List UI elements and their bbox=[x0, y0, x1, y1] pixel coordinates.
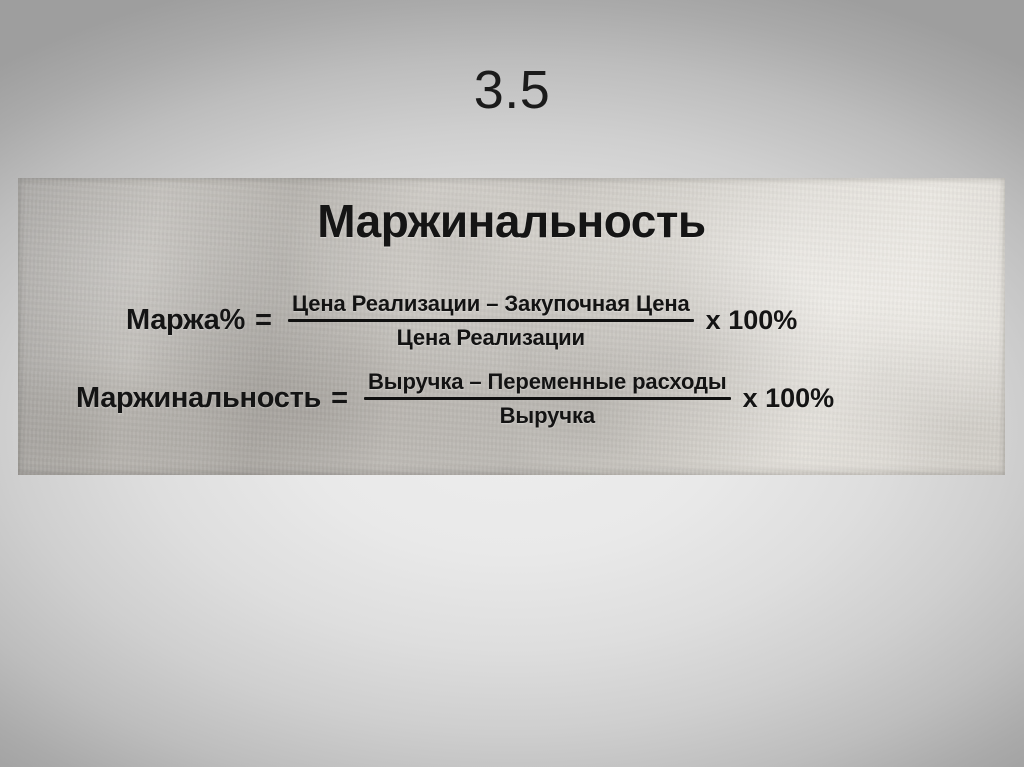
formula-equals-sign-2: = bbox=[331, 382, 348, 415]
formula-multiplier-1: x 100% bbox=[706, 305, 798, 336]
formula-label-marzhinalnost: Маржинальность bbox=[76, 382, 321, 415]
fraction-denominator-1: Цена Реализации bbox=[397, 322, 585, 351]
fraction-numerator-1: Цена Реализации – Закупочная Цена bbox=[288, 290, 694, 319]
formula-row-marzhinalnost: Маржинальность = Выручка – Переменные ра… bbox=[76, 368, 834, 429]
formula-equals-sign-1: = bbox=[255, 304, 272, 337]
formula-label-marzha-percent: Маржа% bbox=[126, 304, 245, 337]
formula-multiplier-2: x 100% bbox=[743, 383, 835, 414]
fraction-2: Выручка – Переменные расходы Выручка bbox=[364, 368, 731, 429]
formula-row-marzha-percent: Маржа% = Цена Реализации – Закупочная Це… bbox=[126, 290, 797, 351]
formula-image-content: Маржинальность Маржа% = Цена Реализации … bbox=[18, 178, 1005, 475]
image-heading: Маржинальность bbox=[18, 194, 1005, 248]
fraction-denominator-2: Выручка bbox=[500, 400, 595, 429]
fraction-numerator-2: Выручка – Переменные расходы bbox=[364, 368, 731, 397]
fraction-1: Цена Реализации – Закупочная Цена Цена Р… bbox=[288, 290, 694, 351]
formula-image: Маржинальность Маржа% = Цена Реализации … bbox=[18, 178, 1005, 475]
slide-number-title: 3.5 bbox=[0, 58, 1024, 122]
